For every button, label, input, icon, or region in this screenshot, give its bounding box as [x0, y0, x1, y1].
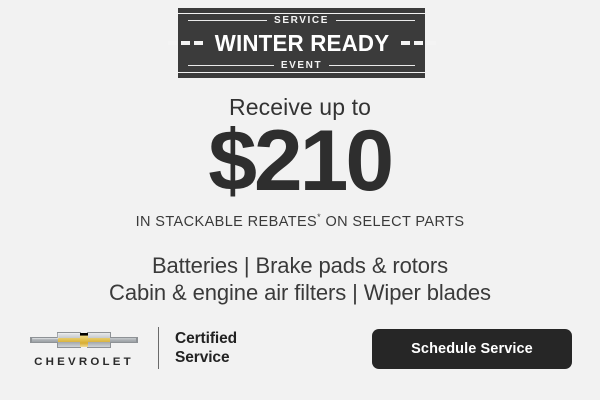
badge-kicker-top-label: SERVICE	[274, 16, 329, 26]
rebate-text: IN STACKABLE REBATES	[136, 214, 318, 230]
certified-service-line-1: Certified	[175, 329, 237, 348]
advertisement-banner: SERVICE WINTER READY EVENT Receive up to…	[0, 0, 600, 400]
brand-lockup: CHEVROLET Certified Service	[28, 322, 237, 374]
badge-title: WINTER READY	[214, 32, 389, 55]
rebate-text-suffix: ON SELECT PARTS	[325, 214, 464, 230]
rebate-description: IN STACKABLE REBATES* ON SELECT PARTS	[0, 215, 600, 230]
product-line-1: Batteries | Brake pads & rotors	[0, 252, 600, 279]
badge-kicker-bottom: EVENT	[178, 59, 425, 72]
rebate-footnote-mark: *	[317, 212, 321, 222]
badge-bottom-bar	[178, 72, 425, 78]
schedule-service-button[interactable]: Schedule Service	[372, 329, 572, 369]
eligible-products: Batteries | Brake pads & rotors Cabin & …	[0, 252, 600, 306]
badge-kicker-rule-left	[188, 20, 267, 21]
brand-divider	[158, 327, 159, 369]
chevrolet-logo: CHEVROLET	[28, 328, 140, 369]
badge-kicker-top: SERVICE	[178, 14, 425, 27]
badge-dashes-right-icon	[401, 41, 436, 45]
footer: CHEVROLET Certified Service Schedule Ser…	[28, 322, 572, 378]
badge-kicker-rule-right	[336, 20, 415, 21]
chevrolet-bowtie-icon	[29, 328, 139, 352]
badge-dashes-left-icon	[168, 41, 203, 45]
product-line-2: Cabin & engine air filters | Wiper blade…	[0, 279, 600, 306]
badge-kicker-bottom-rule-left	[188, 65, 274, 66]
chevrolet-wordmark: CHEVROLET	[34, 357, 134, 368]
offer-amount-row: $210	[0, 118, 600, 204]
winter-ready-event-badge: SERVICE WINTER READY EVENT	[178, 8, 425, 78]
badge-kicker-bottom-label: EVENT	[281, 61, 322, 71]
certified-service-label: Certified Service	[175, 329, 237, 367]
offer-amount: $210	[209, 118, 392, 204]
badge-kicker-bottom-rule-right	[329, 65, 415, 66]
certified-service-line-2: Service	[175, 348, 237, 367]
badge-title-row: WINTER READY	[178, 27, 425, 59]
